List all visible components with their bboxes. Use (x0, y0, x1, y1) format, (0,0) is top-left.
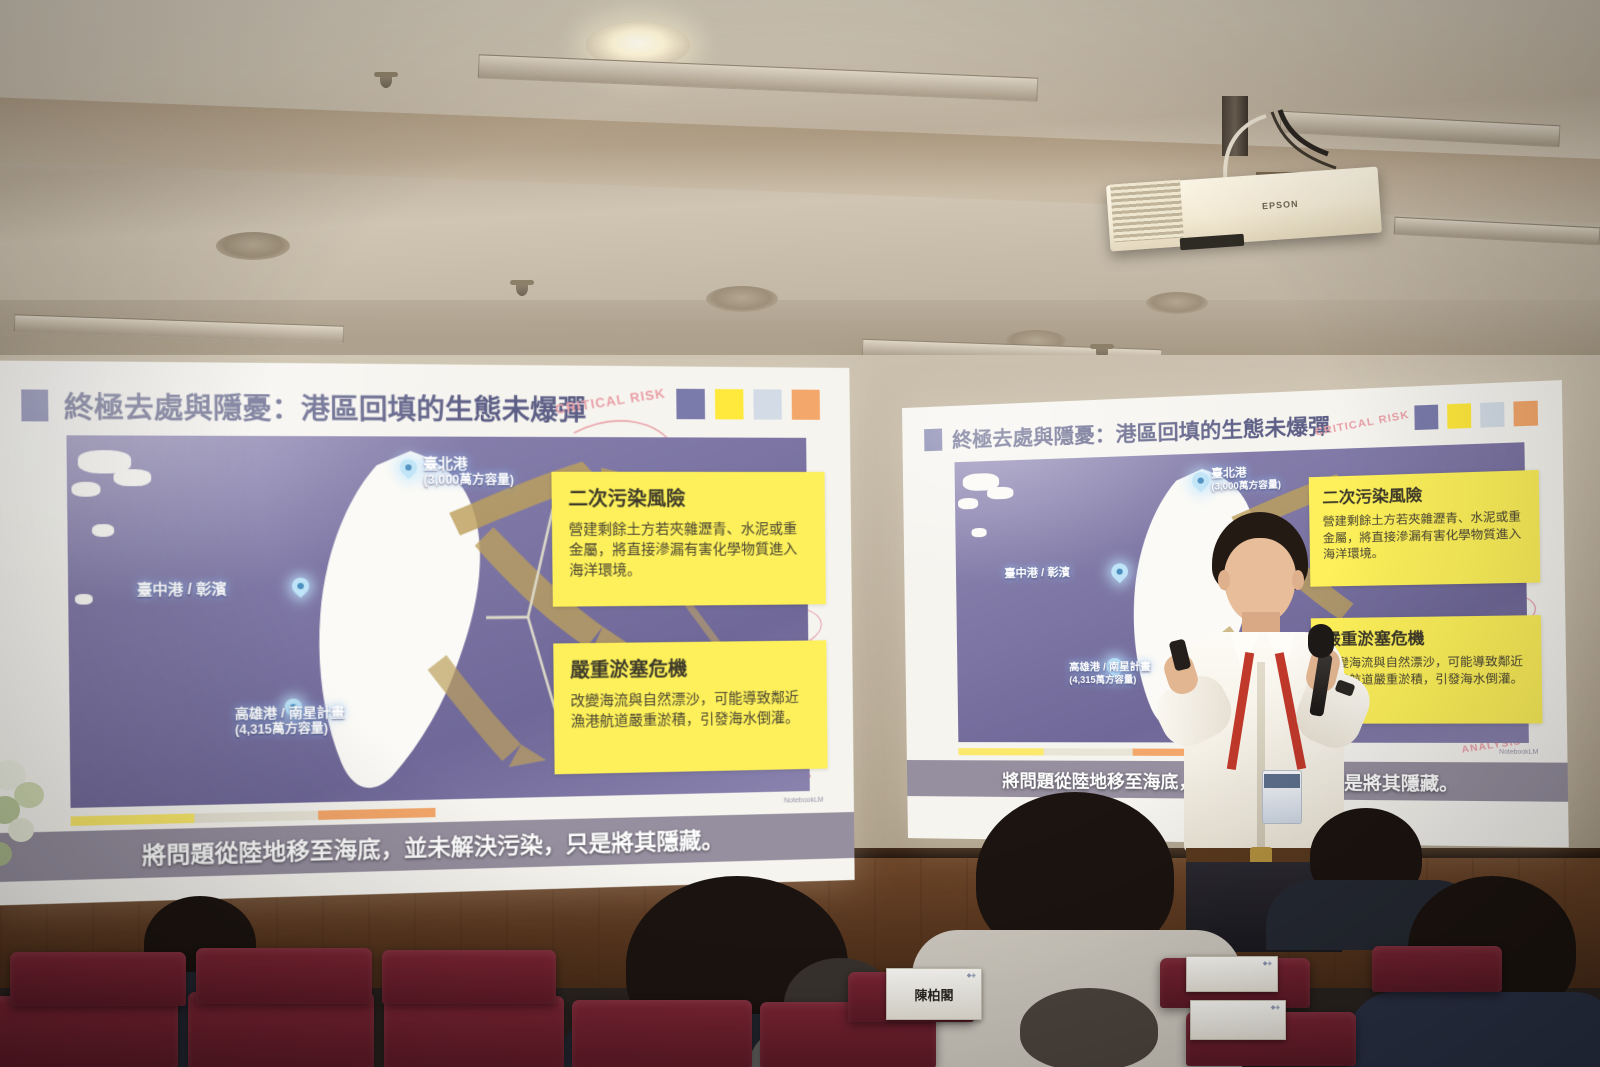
map-label-kaohsiung: 高雄港 / 南星計畫 (4,315萬方容量) (235, 704, 345, 738)
swatch-yellow (1447, 403, 1471, 429)
band-segment-grey (1044, 748, 1133, 755)
presenter-badge-header (1264, 774, 1300, 788)
auditorium-seat[interactable] (572, 1000, 752, 1067)
auditorium-seat[interactable] (1372, 946, 1502, 992)
island-shape (987, 487, 1013, 500)
slide-left: 終極去處與隱憂：港區回填的生態未爆彈 CRITICAL RISK POTENTI… (0, 361, 855, 906)
map-label-taipei: 臺北港 (3,000萬方容量) (1211, 465, 1281, 493)
callout-body: 營建剩餘土方若夾雜瀝青、水泥或重金屬，將直接滲漏有害化學物質進入海洋環境。 (569, 519, 810, 581)
ceiling-downlight (216, 232, 290, 260)
flower-leaf (0, 842, 12, 866)
seat-name-placard: 陳柏閣 ◆◈ (886, 968, 982, 1020)
port-name: 臺中港 / 彰濱 (1004, 567, 1070, 582)
swatch-orange (1513, 401, 1538, 427)
seat-name-placard: ◆◈ (1186, 956, 1278, 992)
port-capacity: (4,315萬方容量) (1069, 674, 1151, 686)
auditorium-seat[interactable] (384, 996, 564, 1067)
map-label-taichung: 臺中港 / 彰濱 (1004, 567, 1070, 582)
auditorium-seat[interactable] (10, 952, 186, 1006)
island-shape (75, 594, 93, 605)
header-bullet-mark (924, 428, 942, 451)
callout-secondary-pollution: 二次污染風險 營建剩餘土方若夾雜瀝青、水泥或重金屬，將直接滲漏有害化學物質進入海… (551, 472, 825, 607)
callout-severe-siltation: 嚴重淤塞危機 改變海流與自然漂沙，可能導致鄰近漁港航道嚴重淤積，引發海水倒灌。 (553, 640, 827, 774)
placard-logo-icon: ◆◈ (1263, 960, 1272, 967)
callout-title: 二次污染風險 (568, 484, 825, 512)
auditorium-seat[interactable] (0, 996, 178, 1067)
band-segment-yellow (71, 814, 195, 826)
band-segment-yellow (958, 748, 1043, 755)
island-shape (113, 469, 151, 486)
map-label-taichung: 臺中港 / 彰濱 (137, 580, 227, 599)
ceiling-downlight (706, 286, 778, 312)
callout-title: 二次污染風險 (1322, 480, 1539, 509)
map-pin-taipei[interactable] (400, 459, 417, 482)
conference-room-photo: EPSON 終極去處與隱憂：港區回填的生態未爆彈 CRITICAL RISK P… (0, 0, 1600, 1067)
banner-text: 將問題從陸地移至海底，並未解決污染，只是將其隱藏。 (142, 822, 724, 870)
header-bullet-mark (21, 389, 48, 421)
audience-head (1020, 988, 1158, 1067)
auditorium-seat[interactable] (196, 948, 372, 1004)
swatch-purple (1414, 405, 1438, 430)
band-segment-orange (318, 808, 435, 820)
port-name: 臺中港 / 彰濱 (137, 580, 227, 599)
callout-body: 改變海流與自然漂沙，可能導致鄰近漁港航道嚴重淤積，引發海水倒灌。 (570, 688, 811, 732)
projection-screen-left: 終極去處與隱憂：港區回填的生態未爆彈 CRITICAL RISK POTENTI… (0, 361, 855, 906)
presenter-ear (1292, 570, 1304, 590)
sprinkler-head (380, 72, 392, 88)
audience-shoulders (1348, 992, 1600, 1067)
island-shape (971, 528, 986, 537)
ceiling-downlight (1146, 292, 1208, 314)
color-palette-swatches (1414, 401, 1538, 430)
projector-exhaust-vent (1110, 180, 1184, 243)
flower-petal (8, 818, 34, 842)
swatch-light-blue (1480, 402, 1504, 428)
callout-title: 嚴重淤塞危機 (570, 652, 827, 683)
port-name: 高雄港 / 南星計畫 (1069, 662, 1151, 675)
port-capacity: (4,315萬方容量) (235, 721, 345, 738)
slide-footer-credit: NotebookLM (1499, 749, 1538, 756)
island-shape (71, 482, 100, 497)
presenter-ear (1218, 570, 1230, 590)
island-shape (92, 524, 114, 537)
seat-name-placard: ◆◈ (1190, 1000, 1286, 1040)
map-pin-taichung[interactable] (292, 578, 310, 601)
placard-logo-icon: ◆◈ (1271, 1004, 1280, 1011)
flower-arrangement (0, 756, 62, 876)
map-pin-taipei[interactable] (1192, 472, 1205, 490)
auditorium-seat[interactable] (382, 950, 556, 1004)
air-vent (478, 54, 1039, 101)
port-name: 高雄港 / 南星計畫 (235, 704, 345, 722)
placard-logo-icon: ◆◈ (967, 972, 976, 979)
port-capacity: (3,000萬方容量) (1211, 480, 1281, 494)
microphone-head[interactable] (1308, 624, 1334, 658)
band-segment-grey (194, 811, 318, 823)
slide-header-right: 終極去處與隱憂：港區回填的生態未爆彈 (924, 409, 1330, 454)
presenter-face (1224, 538, 1296, 622)
sprinkler-head (516, 280, 528, 296)
slide-footer-credit: NotebookLM (784, 797, 824, 805)
map-label-kaohsiung: 高雄港 / 南星計畫 (4,315萬方容量) (1069, 662, 1151, 686)
island-shape (958, 498, 978, 510)
map-pin-taichung[interactable] (1111, 563, 1124, 581)
page-title: 終極去處與隱憂：港區回填的生態未爆彈 (952, 409, 1330, 453)
placard-name-text: 陳柏閣 (914, 985, 953, 1004)
